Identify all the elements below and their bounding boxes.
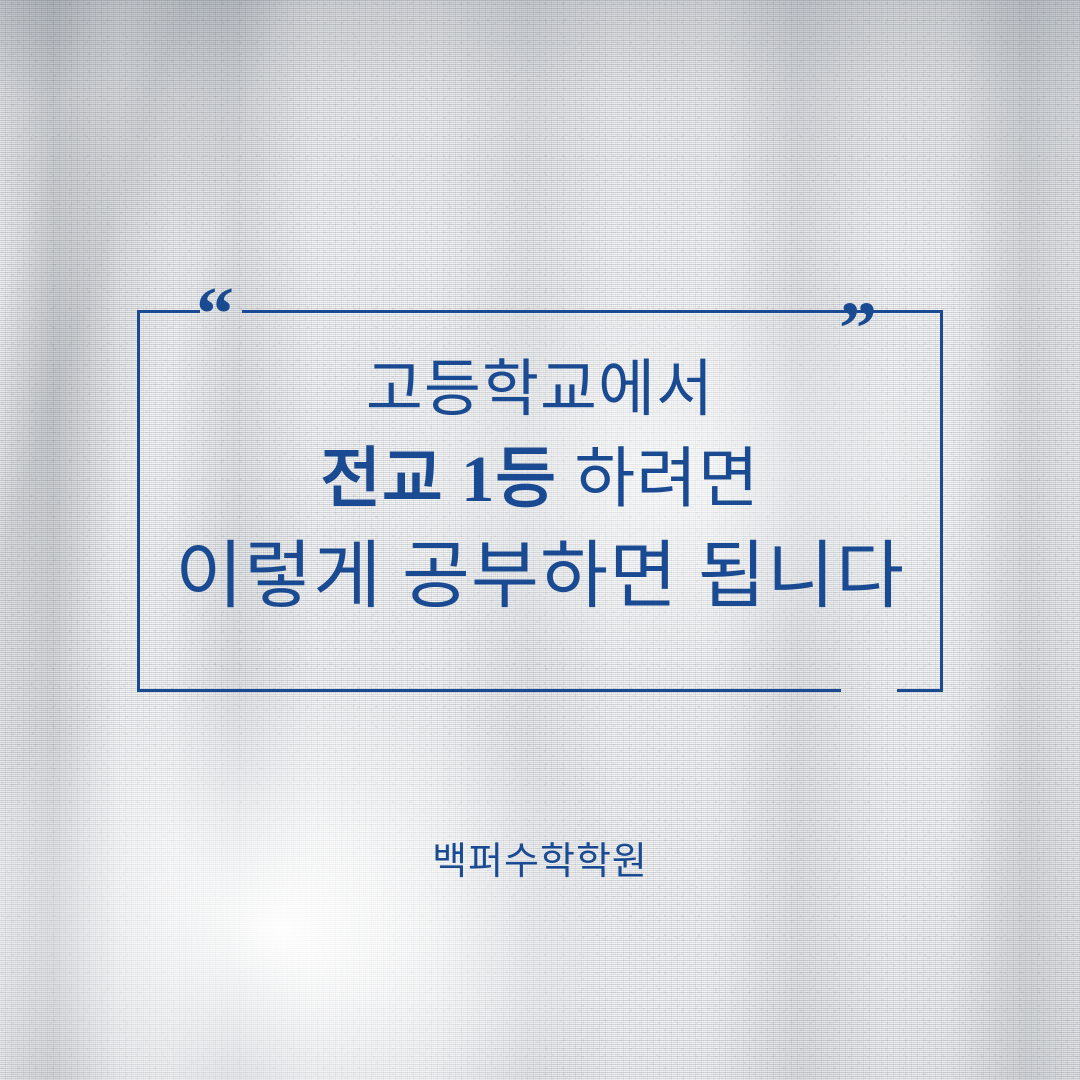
headline-line-3: 이렇게 공부하면 됩니다	[137, 526, 943, 628]
quote-card: “ ” 고등학교에서 전교 1등 하려면 이렇게 공부하면 됩니다 백퍼수학학원	[0, 0, 1080, 1080]
headline-line-1: 고등학교에서	[137, 346, 943, 434]
frame-border-top-right-segment	[242, 310, 943, 313]
headline-emphasis-rank: 전교 1등	[320, 443, 557, 516]
frame-border-bottom-right-segment	[897, 689, 943, 692]
card-content: “ ” 고등학교에서 전교 1등 하려면 이렇게 공부하면 됩니다 백퍼수학학원	[0, 0, 1080, 1080]
open-quote-icon: “	[196, 276, 232, 352]
headline-line-2-rest: 하려면	[557, 443, 760, 516]
headline: 고등학교에서 전교 1등 하려면 이렇게 공부하면 됩니다	[137, 346, 943, 629]
brand-name: 백퍼수학학원	[0, 838, 1080, 887]
frame-border-bottom-left-segment	[137, 689, 841, 692]
frame-border-top-left-segment	[137, 310, 200, 313]
headline-line-2: 전교 1등 하려면	[137, 434, 943, 526]
